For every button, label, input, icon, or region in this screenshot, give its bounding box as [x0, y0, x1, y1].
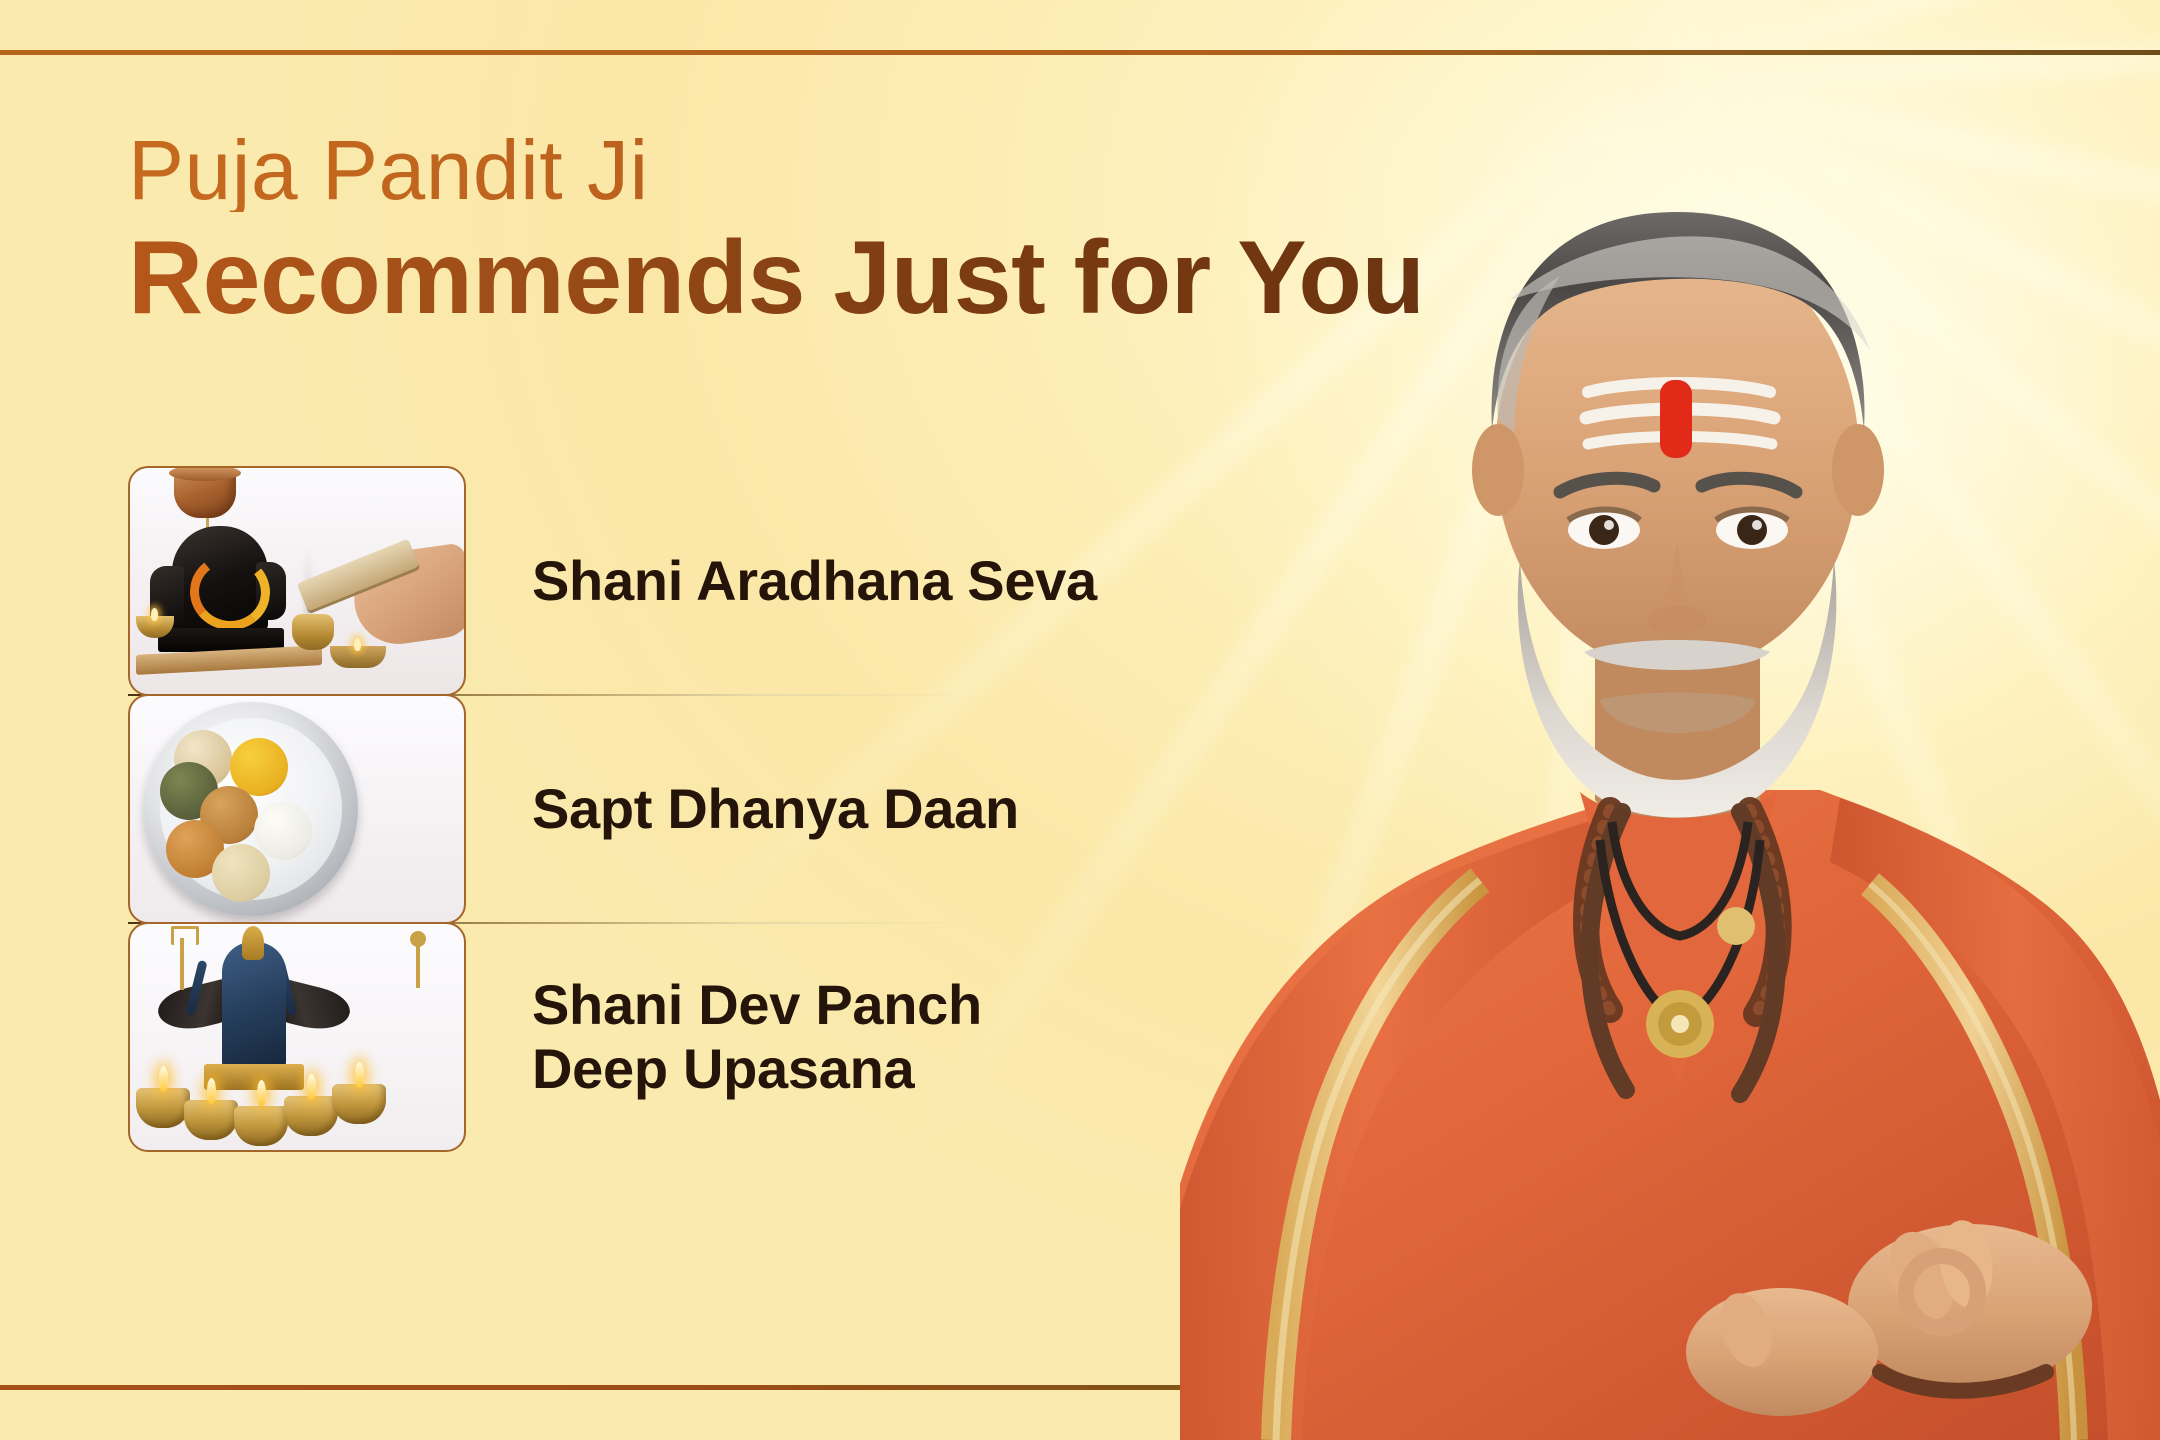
shani-abhishek-idol-thumbnail [128, 466, 466, 696]
list-item-label: Sapt Dhanya Daan [532, 777, 1019, 841]
pandit-portrait [1180, 0, 2160, 1440]
list-item-label-line2: Deep Upasana [532, 1037, 982, 1101]
list-item[interactable]: Shani Dev Panch Deep Upasana [128, 924, 1188, 1150]
bottom-rule [0, 1385, 1205, 1390]
list-item-label-line1: Shani Dev Panch [532, 973, 982, 1037]
list-item[interactable]: Shani Aradhana Seva [128, 468, 1188, 694]
list-item-label: Shani Dev Panch Deep Upasana [532, 973, 982, 1101]
shani-dev-five-diyas-thumbnail [128, 922, 466, 1152]
recommendations-list: Shani Aradhana Seva Sapt Dhanya Daan [128, 468, 1188, 1150]
list-item[interactable]: Sapt Dhanya Daan [128, 696, 1188, 922]
promotional-banner: Puja Pandit Ji Recommends Just for You S… [0, 0, 2160, 1440]
list-item-label: Shani Aradhana Seva [532, 549, 1097, 613]
seven-grains-thali-thumbnail [128, 694, 466, 924]
